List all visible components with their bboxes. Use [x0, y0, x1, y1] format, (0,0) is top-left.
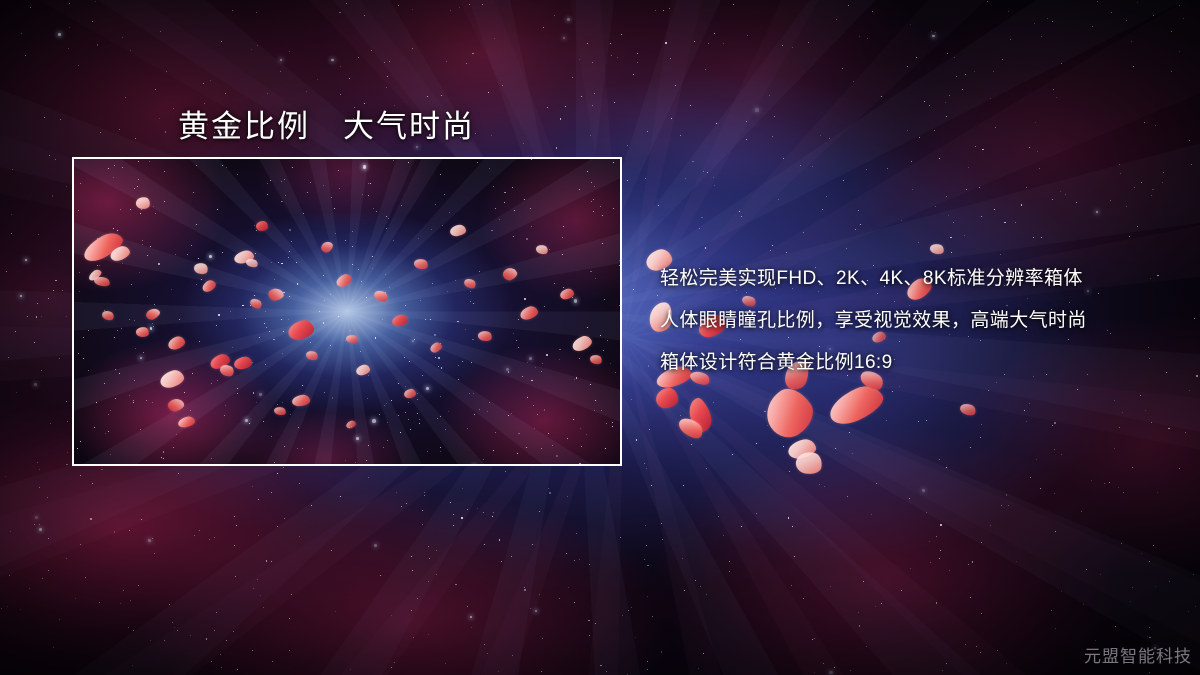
star	[266, 223, 267, 224]
star	[723, 535, 724, 536]
star	[663, 10, 664, 11]
star	[803, 232, 804, 233]
star	[35, 516, 38, 519]
star	[352, 299, 353, 300]
star	[579, 189, 580, 190]
star	[363, 165, 366, 168]
flower-petal	[135, 196, 151, 210]
star	[258, 499, 259, 500]
star	[281, 181, 282, 182]
star	[887, 168, 888, 169]
star	[1100, 574, 1101, 575]
star	[221, 41, 222, 42]
star	[271, 492, 272, 493]
star	[281, 263, 282, 264]
star	[1034, 23, 1035, 24]
star	[981, 613, 982, 614]
star	[335, 233, 336, 234]
star	[453, 514, 454, 515]
star	[462, 488, 463, 489]
star	[424, 495, 425, 496]
star	[535, 367, 536, 368]
star	[289, 296, 290, 297]
star	[10, 531, 11, 532]
star	[58, 33, 61, 36]
star	[446, 61, 447, 62]
star	[706, 594, 707, 595]
star	[493, 186, 494, 187]
star	[572, 77, 573, 78]
star	[495, 432, 496, 433]
star	[947, 53, 948, 54]
star	[332, 397, 333, 398]
star	[252, 650, 253, 651]
star	[1179, 5, 1180, 6]
star	[445, 429, 446, 430]
star	[386, 403, 387, 404]
flower-petal	[929, 242, 945, 255]
star	[330, 345, 331, 346]
star	[587, 43, 588, 44]
star	[444, 194, 445, 195]
flower-petal	[757, 381, 821, 445]
star	[644, 559, 645, 560]
star	[647, 131, 648, 132]
star	[1001, 505, 1002, 506]
star	[297, 448, 298, 449]
star	[284, 518, 285, 519]
star	[49, 155, 50, 156]
star	[1118, 487, 1119, 488]
star	[714, 33, 715, 34]
star	[1040, 488, 1041, 489]
star	[1141, 553, 1142, 554]
star	[108, 414, 109, 415]
star	[419, 423, 420, 424]
star	[152, 402, 153, 403]
star	[1153, 15, 1154, 16]
star	[448, 411, 449, 412]
star	[440, 447, 441, 448]
flower-petal	[345, 334, 358, 344]
star	[571, 465, 572, 466]
star	[122, 37, 123, 38]
star	[863, 581, 864, 582]
flower-petal	[87, 268, 103, 283]
star	[617, 57, 618, 58]
star	[778, 199, 779, 200]
star	[323, 185, 324, 186]
star	[442, 225, 443, 226]
star	[230, 311, 231, 312]
star	[285, 195, 286, 196]
star	[929, 105, 930, 106]
star	[29, 588, 30, 589]
star	[1060, 191, 1061, 192]
star	[258, 535, 259, 536]
star	[1053, 89, 1054, 90]
star	[716, 123, 717, 124]
star	[1115, 626, 1116, 627]
star	[450, 502, 451, 503]
star	[683, 485, 684, 486]
star	[619, 265, 620, 266]
star	[524, 298, 525, 299]
flower-petal	[559, 287, 575, 300]
star	[774, 116, 775, 117]
star	[380, 575, 381, 576]
star	[351, 426, 352, 427]
star	[135, 348, 136, 349]
star	[237, 669, 238, 670]
star	[491, 230, 492, 231]
star	[166, 71, 167, 72]
star	[529, 357, 532, 360]
star	[361, 281, 362, 282]
star	[438, 357, 439, 358]
star	[440, 451, 441, 452]
star	[175, 254, 176, 255]
star	[104, 310, 105, 311]
star	[391, 615, 392, 616]
star	[924, 101, 925, 102]
star	[20, 295, 22, 297]
star	[548, 488, 549, 489]
star	[256, 402, 257, 403]
star	[226, 167, 227, 168]
star	[131, 284, 132, 285]
star	[405, 305, 406, 306]
star	[435, 357, 436, 358]
body-line-3: 箱体设计符合黄金比例16:9	[660, 342, 1180, 384]
star	[25, 55, 26, 56]
star	[800, 165, 801, 166]
star	[514, 269, 515, 270]
star	[367, 398, 368, 399]
star	[386, 228, 387, 229]
star	[1096, 211, 1098, 213]
star	[786, 252, 787, 253]
star	[467, 509, 468, 510]
star	[669, 8, 670, 9]
star	[512, 655, 513, 656]
star	[420, 300, 421, 301]
star	[113, 228, 114, 229]
star	[259, 393, 262, 396]
star	[560, 118, 561, 119]
star	[769, 95, 770, 96]
star	[408, 419, 409, 420]
flower-petal	[449, 224, 466, 237]
star	[860, 224, 861, 225]
star	[463, 228, 464, 229]
star	[867, 38, 868, 39]
star	[355, 462, 356, 463]
star	[699, 228, 700, 229]
star	[306, 91, 307, 92]
star	[535, 610, 537, 612]
star	[129, 319, 130, 320]
star	[848, 5, 849, 6]
star	[414, 339, 415, 340]
star	[470, 291, 471, 292]
star	[968, 167, 969, 168]
star	[483, 459, 484, 460]
star	[115, 369, 116, 370]
star	[440, 343, 441, 344]
star	[48, 570, 49, 571]
star	[547, 107, 548, 108]
star	[445, 663, 446, 664]
star	[1122, 412, 1123, 413]
star	[514, 210, 515, 211]
star	[783, 446, 784, 447]
star	[517, 453, 518, 454]
star	[404, 357, 405, 358]
star	[932, 35, 935, 38]
star	[209, 539, 210, 540]
star	[282, 402, 283, 403]
star	[147, 255, 148, 256]
star	[713, 402, 714, 403]
star	[453, 525, 454, 526]
star	[814, 672, 815, 673]
star	[264, 323, 265, 324]
star	[770, 250, 771, 251]
star	[457, 321, 458, 322]
star	[477, 508, 478, 509]
star	[278, 262, 279, 263]
star	[1193, 574, 1194, 575]
star	[1030, 477, 1031, 478]
star	[1140, 395, 1141, 396]
star	[567, 438, 568, 439]
star	[646, 468, 647, 469]
star	[1081, 511, 1082, 512]
star	[394, 662, 395, 663]
flower-petal	[345, 420, 357, 430]
star	[220, 654, 221, 655]
star	[48, 298, 49, 299]
star	[594, 410, 595, 411]
star	[772, 245, 773, 246]
star	[48, 538, 49, 539]
star	[1004, 222, 1005, 223]
star	[417, 393, 418, 394]
star	[214, 537, 215, 538]
star	[41, 316, 42, 317]
star	[62, 290, 63, 291]
star	[1006, 494, 1007, 495]
star	[621, 434, 622, 435]
star	[110, 454, 111, 455]
star	[428, 634, 429, 635]
star	[789, 471, 790, 472]
star	[852, 453, 853, 454]
star	[1047, 18, 1048, 19]
star	[277, 526, 278, 527]
star	[148, 539, 151, 542]
star	[273, 339, 274, 340]
star	[283, 331, 284, 332]
star	[466, 63, 467, 64]
star	[284, 446, 285, 447]
star	[217, 209, 218, 210]
star	[1051, 610, 1052, 611]
star	[615, 372, 616, 373]
star	[912, 189, 913, 190]
star	[593, 199, 594, 200]
star	[473, 303, 474, 304]
star	[92, 21, 93, 22]
star	[66, 401, 67, 402]
star	[59, 619, 60, 620]
star	[78, 210, 79, 211]
star	[939, 158, 940, 159]
star	[610, 43, 611, 44]
star	[695, 580, 696, 581]
star	[822, 209, 823, 210]
flower-petal	[429, 341, 444, 354]
star	[916, 57, 917, 58]
flower-petal	[256, 221, 268, 231]
star	[39, 487, 40, 488]
star	[875, 606, 876, 607]
star	[974, 71, 975, 72]
star	[429, 558, 430, 559]
star	[694, 41, 695, 42]
star	[432, 283, 433, 284]
star	[982, 149, 983, 150]
star	[265, 364, 266, 365]
star	[375, 337, 376, 338]
star	[1083, 604, 1084, 605]
star	[66, 464, 67, 465]
flower-petal	[245, 257, 259, 269]
star	[198, 258, 199, 259]
star	[289, 251, 290, 252]
star	[548, 433, 549, 434]
star	[562, 237, 563, 238]
star	[835, 448, 836, 449]
star	[479, 409, 480, 410]
star	[411, 610, 412, 611]
star	[134, 320, 135, 321]
flower-petal	[177, 415, 196, 428]
flower-petal	[167, 335, 187, 352]
star	[1185, 432, 1186, 433]
flower-petal	[403, 388, 416, 399]
star	[980, 652, 981, 653]
star	[225, 93, 226, 94]
star	[462, 361, 463, 362]
star	[602, 215, 603, 216]
star	[267, 93, 268, 94]
star	[563, 226, 564, 227]
star	[830, 586, 831, 587]
star	[647, 565, 648, 566]
star	[504, 272, 505, 273]
flower-petal	[233, 356, 252, 370]
star	[52, 195, 53, 196]
star	[217, 380, 218, 381]
star	[847, 496, 848, 497]
star	[940, 524, 941, 525]
star	[494, 38, 495, 39]
star	[34, 524, 35, 525]
star	[756, 513, 757, 514]
star	[487, 411, 488, 412]
star	[591, 201, 592, 202]
star	[469, 393, 470, 394]
flower-petal	[794, 450, 824, 477]
star	[370, 183, 371, 184]
star	[383, 447, 384, 448]
star	[114, 165, 115, 166]
star	[949, 570, 950, 571]
star	[104, 315, 105, 316]
star	[619, 260, 620, 261]
star	[472, 339, 473, 340]
star	[348, 336, 349, 337]
star	[850, 670, 851, 671]
star	[398, 5, 399, 6]
star	[576, 533, 577, 534]
star	[233, 631, 234, 632]
star	[612, 426, 613, 427]
star	[633, 289, 634, 290]
star	[601, 410, 602, 411]
star	[1132, 467, 1133, 468]
star	[307, 192, 308, 193]
flower-petal	[80, 228, 126, 265]
star	[479, 271, 480, 272]
star	[1055, 531, 1056, 532]
star	[559, 598, 560, 599]
star	[1196, 375, 1197, 376]
star	[703, 653, 704, 654]
star	[607, 340, 608, 341]
star	[254, 225, 255, 226]
star	[391, 400, 392, 401]
star	[541, 448, 542, 449]
star	[263, 607, 264, 608]
star	[449, 212, 450, 213]
star	[280, 59, 282, 61]
star	[372, 256, 373, 257]
star	[592, 105, 593, 106]
star	[620, 537, 621, 538]
star	[150, 246, 151, 247]
star	[373, 208, 374, 209]
star	[389, 61, 390, 62]
star	[274, 462, 275, 463]
star	[886, 420, 887, 421]
star	[257, 45, 258, 46]
star	[665, 42, 666, 43]
star	[92, 483, 93, 484]
star	[1126, 206, 1127, 207]
star	[783, 158, 784, 159]
star	[499, 539, 500, 540]
star	[108, 431, 109, 432]
star	[824, 486, 825, 487]
star	[1189, 140, 1190, 141]
star	[675, 85, 676, 86]
star	[926, 420, 927, 421]
star	[950, 237, 951, 238]
star	[427, 451, 428, 452]
